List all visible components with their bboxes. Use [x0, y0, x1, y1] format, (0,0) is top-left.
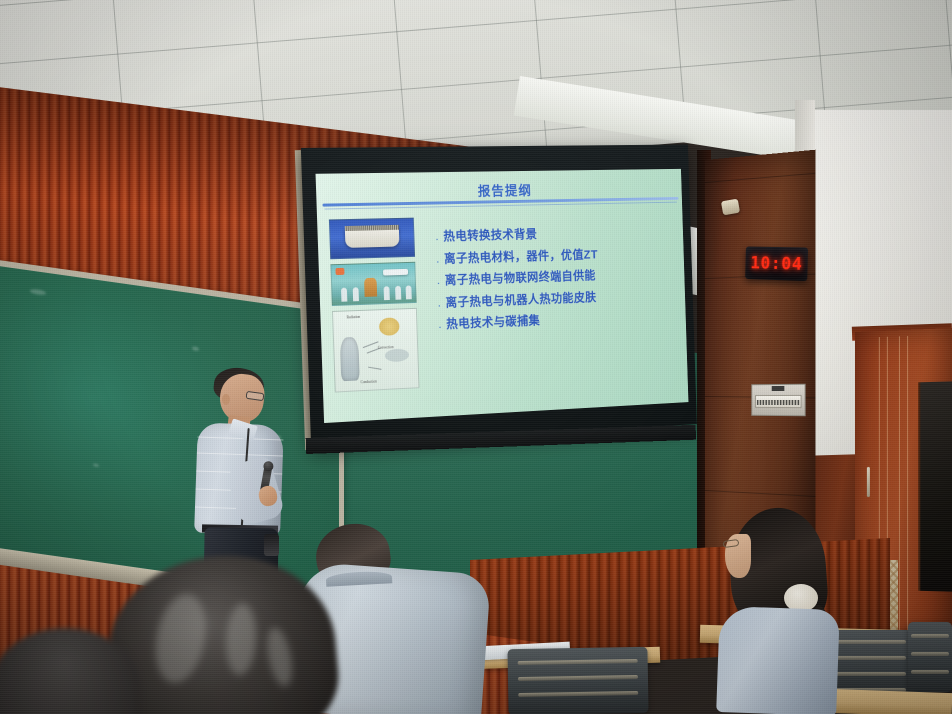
bullet-text: 热电技术与碳捕集 — [446, 315, 540, 331]
slide-bullet-item: · 热电转换技术背景 — [435, 225, 676, 245]
thumbnail-application-illustration — [330, 262, 416, 306]
bullet-marker-icon: · — [438, 323, 442, 334]
bullet-marker-icon: · — [435, 235, 439, 246]
door-glass-panel — [918, 381, 952, 591]
label-radiation: Radiation — [347, 315, 361, 319]
slide-bullet-list: · 热电转换技术背景 · 离子热电材料，器件，优值ZT · 离子热电与物联网终端… — [435, 225, 679, 341]
thumbnail-flexible-film-image — [329, 218, 415, 260]
slide-bullet-item: · 热电技术与碳捕集 — [438, 309, 679, 333]
led-wall-clock: 10:04 — [745, 246, 808, 281]
bullet-text: 离子热电材料，器件，优值ZT — [444, 248, 598, 265]
presenter-ear — [222, 394, 230, 405]
presentation-slide: 报告提纲 — [316, 169, 689, 423]
door-handle[interactable] — [867, 467, 870, 497]
clock-time-display: 10:04 — [750, 253, 803, 274]
bullet-marker-icon: · — [437, 301, 441, 312]
label-convection: Convection — [378, 345, 394, 350]
bullet-text: 热电转换技术背景 — [443, 228, 537, 243]
electrical-distribution-panel[interactable] — [751, 384, 805, 417]
bullet-marker-icon: · — [436, 257, 440, 268]
thumbnail-robot-heat-transfer-diagram: Radiation Convection Conduction — [332, 308, 419, 393]
student-shirt — [716, 606, 840, 714]
slide-bullet-item: · 离子热电与机器人热功能皮肤 — [437, 288, 678, 311]
bullet-text: 离子热电与物联网终端自供能 — [445, 270, 596, 287]
seated-student-right — [722, 508, 882, 714]
chair-center[interactable] — [507, 647, 648, 714]
label-conduction: Conduction — [361, 380, 377, 385]
chair-right-2[interactable] — [908, 622, 952, 692]
projection-screen: 报告提纲 — [301, 144, 697, 447]
bullet-marker-icon: · — [437, 279, 441, 290]
slide-bullet-item: · 离子热电材料，器件，优值ZT — [436, 246, 677, 267]
bullet-text: 离子热电与机器人热功能皮肤 — [445, 291, 596, 309]
slide-bullet-item: · 离子热电与物联网终端自供能 — [437, 267, 678, 289]
slide-thumbnail-column: Radiation Convection Conduction — [329, 218, 420, 398]
presenter-belt-pouch — [264, 534, 279, 556]
wall-sensor-icon — [721, 199, 740, 216]
lecture-hall-photo: 报告提纲 — [0, 0, 952, 714]
